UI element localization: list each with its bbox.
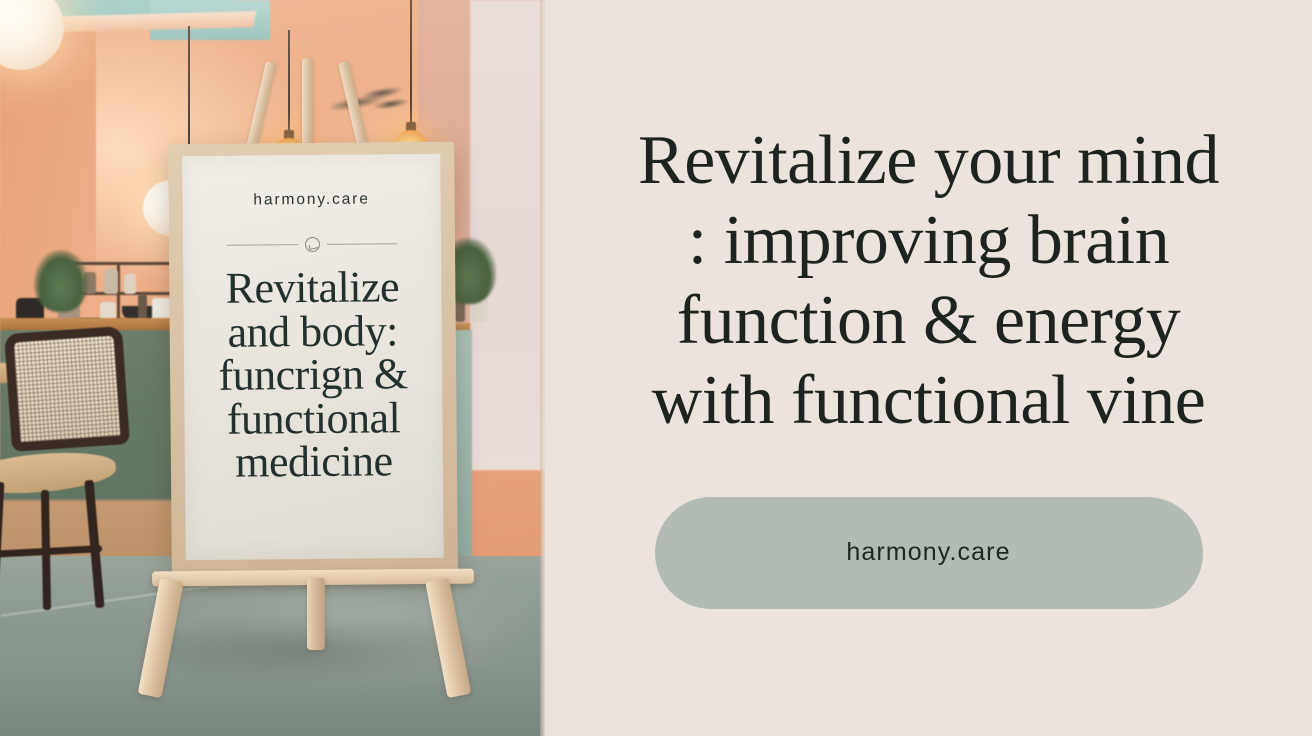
counter-bottle bbox=[138, 294, 147, 320]
easel-strut-center bbox=[302, 58, 313, 156]
divider-rule-left bbox=[227, 244, 298, 246]
poster-headline-line-5: medicine bbox=[203, 439, 425, 484]
counter-plant-left bbox=[34, 250, 88, 312]
content-panel: Revitalize your mind : improving brain f… bbox=[545, 0, 1312, 736]
headline-line-2: : improving brain bbox=[609, 201, 1249, 281]
headline-line-4: with functional vine bbox=[609, 361, 1249, 441]
main-headline: Revitalize your mind : improving brain f… bbox=[609, 121, 1249, 440]
poster-headline-line-2: and body: bbox=[202, 309, 424, 354]
easel-leg-center bbox=[307, 578, 325, 650]
shelf-jar-4 bbox=[124, 274, 136, 294]
harmony-care-cta-button[interactable]: harmony.care bbox=[655, 497, 1203, 609]
chair-seat bbox=[0, 448, 117, 499]
floor-sheen bbox=[150, 575, 545, 695]
easel-sign-board: harmony.care Revitalize and body: funcri… bbox=[168, 142, 458, 576]
poster-divider bbox=[227, 236, 397, 252]
poster-mockup-canvas: harmony.care Revitalize and body: funcri… bbox=[0, 0, 1312, 736]
poster-artwork: harmony.care Revitalize and body: funcri… bbox=[182, 154, 444, 560]
shelf-jar-3 bbox=[104, 268, 118, 294]
cta-button-label: harmony.care bbox=[846, 538, 1010, 567]
chair-leg-back bbox=[84, 480, 104, 608]
chair-cane-backrest bbox=[4, 326, 130, 452]
poster-headline-line-3: funcrign & bbox=[202, 352, 424, 397]
poster-headline: Revitalize and body: funcrign & function… bbox=[201, 265, 425, 485]
headline-line-1: Revitalize your mind bbox=[609, 121, 1249, 201]
far-wall-pale bbox=[470, 0, 545, 470]
headline-line-3: function & energy bbox=[609, 281, 1249, 361]
chair-leg-front bbox=[0, 482, 4, 612]
cane-back-chair bbox=[0, 330, 140, 620]
poster-headline-line-1: Revitalize bbox=[201, 265, 423, 310]
poster-brand-label: harmony.care bbox=[201, 190, 423, 210]
poster-headline-line-4: functional bbox=[202, 396, 424, 441]
chair-stretcher bbox=[0, 545, 102, 558]
monogram-icon bbox=[304, 237, 319, 252]
divider-rule-right bbox=[326, 243, 397, 245]
cafe-interior-photo: harmony.care Revitalize and body: funcri… bbox=[0, 0, 545, 736]
